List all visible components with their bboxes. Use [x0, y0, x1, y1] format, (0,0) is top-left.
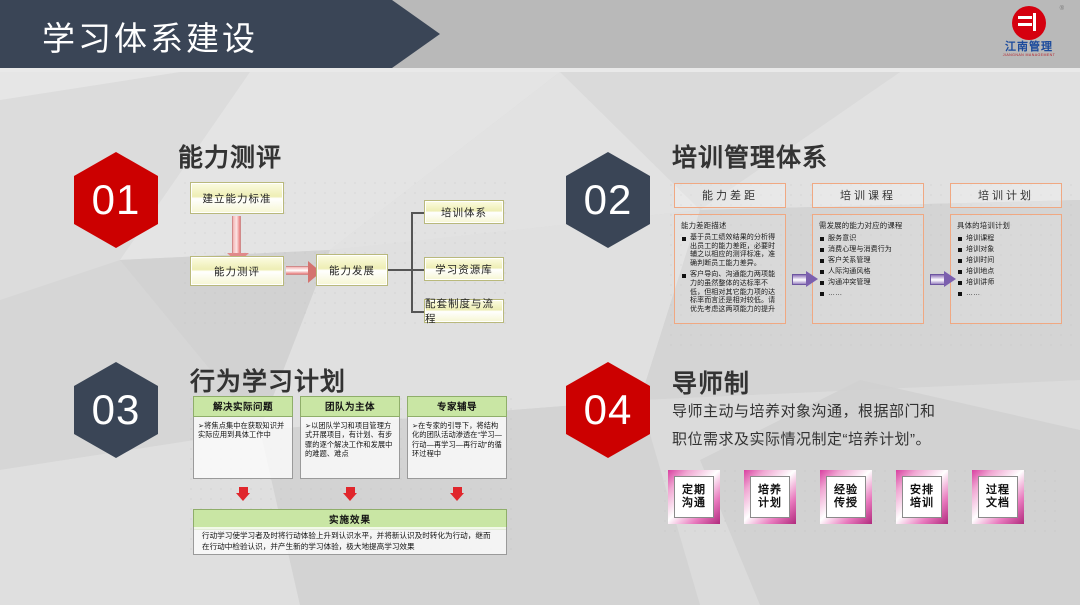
s4-box-2[interactable]: 培养计划 — [744, 470, 796, 524]
list-item: 培训课程 — [957, 234, 1055, 244]
header-bar: 学习体系建设 — [0, 0, 1080, 68]
section-01-title: 能力测评 — [178, 138, 282, 174]
s3-col-3-body: ➢在专家的引导下，将结构化的团队活动渗透在“学习—行动—再学习—再行动”的循环过… — [407, 417, 507, 479]
s4-box-4[interactable]: 安排培训 — [896, 470, 948, 524]
logo-emblem-icon — [1012, 6, 1046, 40]
s1-box-out2[interactable]: 学习资源库 — [424, 257, 504, 281]
section-04-description: 导师主动与培养对象沟通，根据部门和 职位需求及实际情况制定“培养计划”。 — [672, 398, 936, 454]
s1-connector-b3 — [411, 311, 425, 313]
s4-box-5-label: 过程文档 — [978, 476, 1018, 518]
s3-col-3[interactable]: 专家辅导 ➢在专家的引导下，将结构化的团队活动渗透在“学习—行动—再学习—再行动… — [407, 396, 507, 479]
s1-box-out1[interactable]: 培训体系 — [424, 200, 504, 224]
s2-panel-course-body: 需发展的能力对应的课程 服务意识 消费心理与消费行为 客户关系管理 人际沟通风格… — [812, 214, 924, 324]
s2-arrow-1-tip — [806, 271, 818, 287]
s4-box-1[interactable]: 定期沟通 — [668, 470, 720, 524]
section-04-number: 04 — [584, 386, 633, 434]
s3-arrow-3-tip — [450, 493, 464, 501]
list-item: …… — [957, 289, 1055, 299]
page-title: 学习体系建设 — [42, 12, 258, 60]
s2-panel-plan-body: 具体的培训计划 培训课程 培训对象 培训时间 培训地点 培训讲师 …… — [950, 214, 1062, 324]
list-item: 培训地点 — [957, 267, 1055, 277]
s3-col-3-head: 专家辅导 — [407, 396, 507, 417]
s2-panel-course-list: 服务意识 消费心理与消费行为 客户关系管理 人际沟通风格 沟通冲突管理 …… — [819, 234, 917, 299]
s2-arrow-1-icon — [792, 272, 818, 287]
s3-col-2-head: 团队为主体 — [300, 396, 400, 417]
header-underline — [0, 68, 1080, 72]
list-item: 消费心理与消费行为 — [819, 245, 917, 255]
list-item: 培训讲师 — [957, 278, 1055, 288]
s2-panel-plan[interactable]: 培训计划 具体的培训计划 培训课程 培训对象 培训时间 培训地点 培训讲师 …… — [950, 183, 1062, 324]
s3-col-1-body: ➢将焦点集中在获取知识并实际应用到具体工作中 — [193, 417, 293, 479]
s2-panel-gap[interactable]: 能力差距 能力差距描述 基于员工绩效结果的分析得出员工的能力差距，必要时辅之以相… — [674, 183, 786, 324]
section-04-desc-line1: 导师主动与培养对象沟通，根据部门和 — [672, 398, 936, 426]
s2-panel-plan-head: 培训计划 — [950, 183, 1062, 208]
s3-col-1-head: 解决实际问题 — [193, 396, 293, 417]
registered-mark-icon: ® — [1060, 6, 1064, 12]
list-item: 客户关系管理 — [819, 256, 917, 266]
s1-connector-b2 — [411, 269, 425, 271]
s1-connector-v — [411, 212, 413, 312]
section-04-title: 导师制 — [672, 364, 750, 400]
s2-panel-plan-lead: 具体的培训计划 — [957, 220, 1055, 231]
s3-result-body: 行动学习使学习者及时将行动体验上升到认识水平，并将新认识及时转化为行动，继而在行… — [193, 527, 507, 555]
s3-col-2[interactable]: 团队为主体 ➢以团队学习和项目管理方式开展项目，有计划、有步骤的逐个解决工作和发… — [300, 396, 400, 479]
list-item: 客户导向、沟通能力两项能力的虽然整体的达标率不低，但相对其它能力项的达标率而言还… — [681, 271, 779, 314]
s1-connector-b1 — [411, 212, 425, 214]
s1-box-assess[interactable]: 能力测评 — [190, 256, 284, 286]
list-item: 培训时间 — [957, 256, 1055, 266]
s3-col-1[interactable]: 解决实际问题 ➢将焦点集中在获取知识并实际应用到具体工作中 — [193, 396, 293, 479]
list-item: 培训对象 — [957, 245, 1055, 255]
s2-arrow-2-tip — [944, 271, 956, 287]
s2-panel-gap-lead: 能力差距描述 — [681, 220, 779, 231]
logo-name-cn: 江南管理 — [992, 41, 1066, 53]
section-01-number: 01 — [92, 176, 141, 224]
s4-box-3-label: 经验传授 — [826, 476, 866, 518]
s2-arrow-2-icon — [930, 272, 956, 287]
s4-box-5[interactable]: 过程文档 — [972, 470, 1024, 524]
list-item: 服务意识 — [819, 234, 917, 244]
s2-panel-gap-head: 能力差距 — [674, 183, 786, 208]
s1-arrow-right — [286, 266, 308, 275]
s3-arrow-3-icon — [451, 487, 464, 501]
s4-box-4-label: 安排培训 — [902, 476, 942, 518]
s2-panel-course-lead: 需发展的能力对应的课程 — [819, 220, 917, 231]
s4-box-2-label: 培养计划 — [750, 476, 790, 518]
s3-arrow-2-tip — [343, 493, 357, 501]
s2-panel-gap-list: 基于员工绩效结果的分析得出员工的能力差距，必要时辅之以相应的测评标准，准确判断员… — [681, 234, 779, 314]
list-item: 基于员工绩效结果的分析得出员工的能力差距，必要时辅之以相应的测评标准，准确判断员… — [681, 234, 779, 268]
s1-box-out3[interactable]: 配套制度与流程 — [424, 299, 504, 323]
section-02-number: 02 — [584, 176, 633, 224]
s3-arrow-1-icon — [237, 487, 250, 501]
s2-panel-plan-list: 培训课程 培训对象 培训时间 培训地点 培训讲师 …… — [957, 234, 1055, 299]
section-03-number: 03 — [92, 386, 141, 434]
section-02-title: 培训管理体系 — [672, 138, 828, 174]
s4-box-3[interactable]: 经验传授 — [820, 470, 872, 524]
list-item: …… — [819, 289, 917, 299]
s2-panel-course-head: 培训课程 — [812, 183, 924, 208]
s4-box-1-label: 定期沟通 — [674, 476, 714, 518]
s3-arrow-2-icon — [344, 487, 357, 501]
s2-panel-gap-body: 能力差距描述 基于员工绩效结果的分析得出员工的能力差距，必要时辅之以相应的测评标… — [674, 214, 786, 324]
slide-canvas: 学习体系建设 ® 江南管理 JIANGNAN MANAGEMENT 01 能力测… — [0, 0, 1080, 605]
s1-arrow-down — [232, 216, 241, 254]
section-04-desc-line2: 职位需求及实际情况制定“培养计划”。 — [672, 426, 936, 454]
s1-box-develop[interactable]: 能力发展 — [316, 254, 388, 286]
list-item: 人际沟通风格 — [819, 267, 917, 277]
s3-col-2-body: ➢以团队学习和项目管理方式开展项目，有计划、有步骤的逐个解决工作和发展中的难题、… — [300, 417, 400, 479]
section-03-title: 行为学习计划 — [190, 362, 346, 398]
company-logo: ® 江南管理 JIANGNAN MANAGEMENT — [992, 4, 1066, 62]
logo-name-en: JIANGNAN MANAGEMENT — [992, 53, 1066, 57]
s1-connector-h — [388, 269, 412, 271]
s2-panel-course[interactable]: 培训课程 需发展的能力对应的课程 服务意识 消费心理与消费行为 客户关系管理 人… — [812, 183, 924, 324]
s3-arrow-1-tip — [236, 493, 250, 501]
s1-box-standard[interactable]: 建立能力标准 — [190, 182, 284, 214]
list-item: 沟通冲突管理 — [819, 278, 917, 288]
